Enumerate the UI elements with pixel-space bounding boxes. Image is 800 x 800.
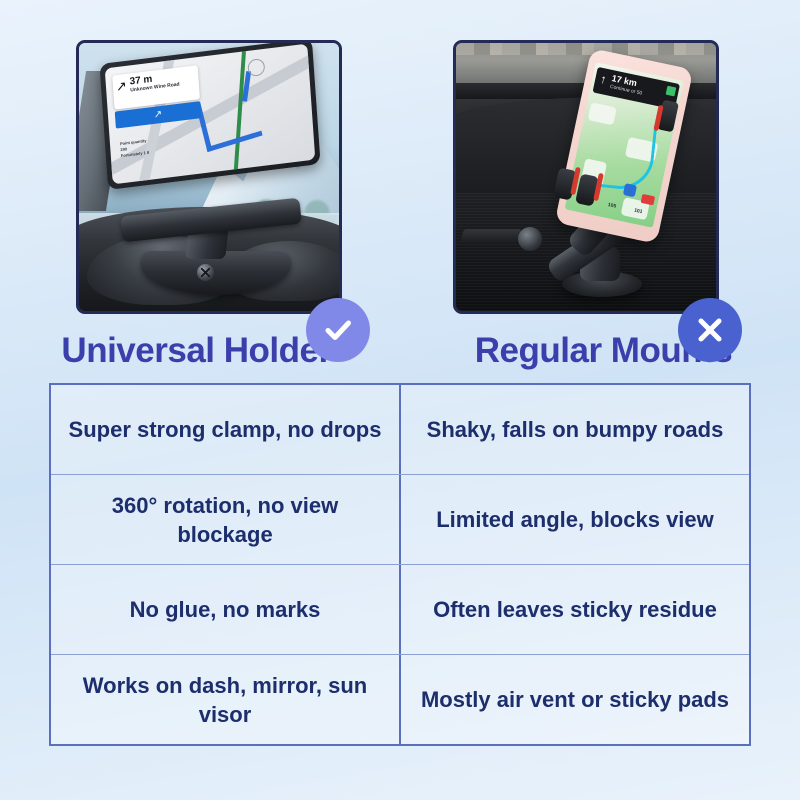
photo-regular-mounts: ↑ 17 km Continue or 50 5.39 105 101 (453, 40, 719, 314)
cell-mounts-4: Mostly air vent or sticky pads (401, 655, 749, 744)
photo-universal-holder: ↗ 37 m Unknown Wine Road ↗ Point quantit… (76, 40, 342, 314)
table-row: 360° rotation, no view blockage Limited … (51, 475, 749, 565)
table-row: No glue, no marks Often leaves sticky re… (51, 565, 749, 655)
map-route-line-right (594, 120, 658, 193)
comparison-infographic: ↗ 37 m Unknown Wine Road ↗ Point quantit… (0, 0, 800, 800)
cell-mounts-3: Often leaves sticky residue (401, 565, 749, 654)
photo-inner-right: ↑ 17 km Continue or 50 5.39 105 101 (456, 43, 716, 311)
nav-status-badge-icon (666, 86, 677, 97)
cell-holder-2: 360° rotation, no view blockage (51, 475, 401, 564)
phone-screen-left: ↗ 37 m Unknown Wine Road ↗ Point quantit… (105, 44, 316, 185)
phone-in-clamp: ↗ 37 m Unknown Wine Road ↗ Point quantit… (99, 43, 320, 190)
status-value-2: 105 (607, 202, 616, 210)
cell-holder-1: Super strong clamp, no drops (51, 385, 401, 474)
map-compass-icon (247, 58, 265, 77)
turn-arrow-icon: ↗ (116, 79, 128, 93)
product-photo-row: ↗ 37 m Unknown Wine Road ↗ Point quantit… (0, 40, 800, 316)
map-route-line (195, 86, 262, 152)
check-icon (320, 312, 356, 348)
verdict-badge-positive (306, 298, 370, 362)
status-value-3: 101 (634, 208, 643, 216)
clamp-screw (197, 264, 214, 281)
comparison-table: Super strong clamp, no drops Shaky, fall… (49, 383, 751, 746)
map-label-2: 290 (120, 146, 127, 152)
turn-arrow-icon-right: ↑ (599, 73, 607, 86)
dashboard-vent (460, 229, 521, 243)
arm-pivot-joint (518, 227, 542, 251)
map-location-pin (623, 183, 637, 197)
cell-holder-3: No glue, no marks (51, 565, 401, 654)
verdict-badge-negative (678, 298, 742, 362)
table-row: Super strong clamp, no drops Shaky, fall… (51, 385, 749, 475)
photo-inner-left: ↗ 37 m Unknown Wine Road ↗ Point quantit… (79, 43, 339, 311)
cell-mounts-2: Limited angle, blocks view (401, 475, 749, 564)
cell-holder-4: Works on dash, mirror, sun visor (51, 655, 401, 744)
cell-mounts-1: Shaky, falls on bumpy roads (401, 385, 749, 474)
cross-icon (693, 313, 727, 347)
table-row: Works on dash, mirror, sun visor Mostly … (51, 655, 749, 744)
